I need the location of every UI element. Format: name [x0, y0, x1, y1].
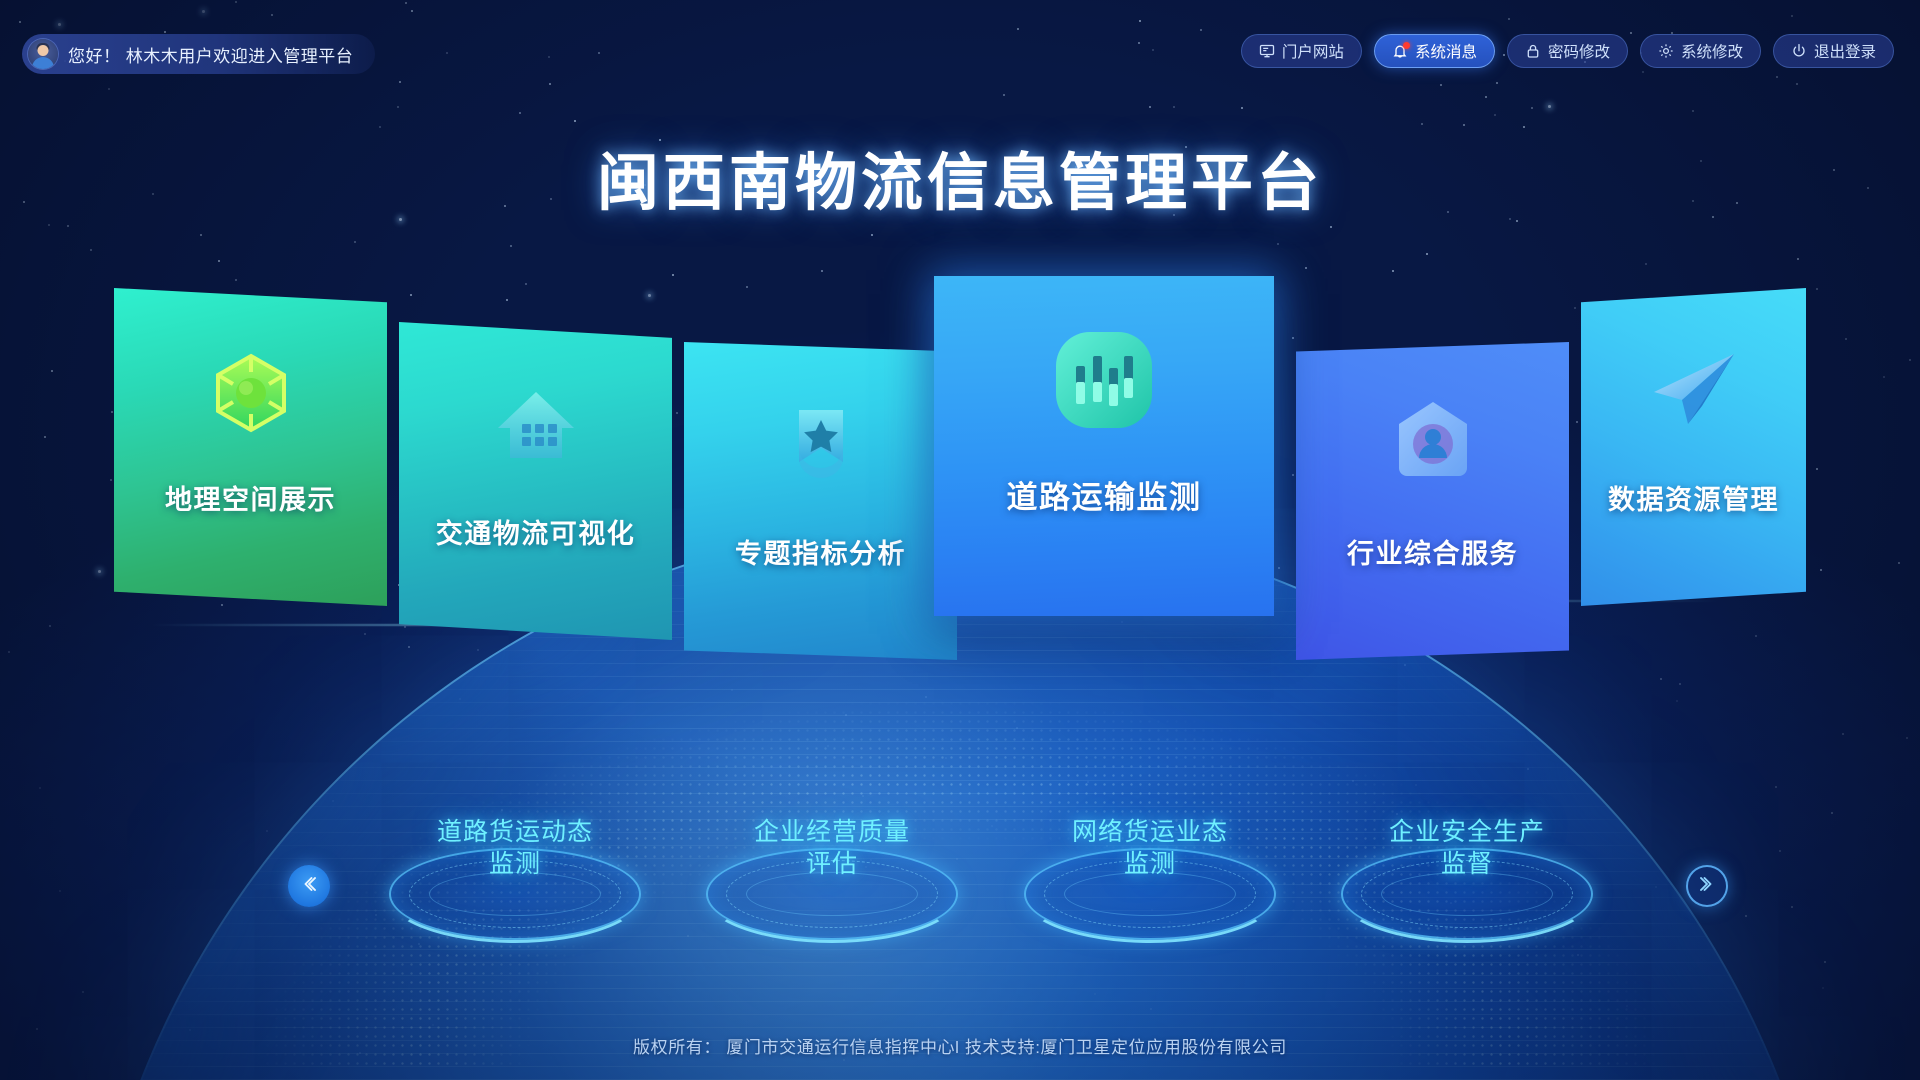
- card-traffic-logistics-visualization[interactable]: 交通物流可视化: [399, 322, 672, 640]
- bottom-item-line1: 道路货运动态: [385, 816, 645, 848]
- bell-icon: [1392, 43, 1408, 59]
- card-data-resource-management[interactable]: 数据资源管理: [1581, 288, 1806, 606]
- bottom-item-line2: 监督: [1337, 848, 1597, 880]
- app-root: 您好！ 林木木用户欢迎进入管理平台 门户网站: [0, 0, 1920, 1080]
- feature-card-carousel: 地理空间展示 交通物流可视化: [0, 276, 1920, 616]
- card-label: 道路运输监测: [934, 472, 1274, 517]
- card-label: 行业综合服务: [1296, 532, 1569, 571]
- portal-website-label: 门户网站: [1282, 40, 1344, 62]
- bottom-item-road-freight-monitoring[interactable]: 道路货运动态 监测: [385, 816, 645, 880]
- change-password-label: 密码修改: [1548, 40, 1610, 62]
- notification-badge-dot: [1403, 42, 1410, 49]
- card-thematic-indicator-analysis[interactable]: 专题指标分析: [684, 342, 957, 660]
- chevron-double-right-icon: [1696, 873, 1718, 900]
- bottom-item-enterprise-quality-evaluation[interactable]: 企业经营质量 评估: [702, 816, 962, 880]
- bookmark-star-icon: [777, 394, 865, 491]
- gear-icon: [1658, 43, 1674, 59]
- monitor-icon: [1259, 43, 1275, 59]
- card-label: 交通物流可视化: [399, 512, 672, 551]
- card-industry-comprehensive-service[interactable]: 行业综合服务: [1296, 342, 1569, 660]
- card-label: 数据资源管理: [1581, 478, 1806, 517]
- change-password-button[interactable]: 密码修改: [1507, 34, 1628, 68]
- bottom-item-network-freight-monitoring[interactable]: 网络货运业态 监测: [1020, 816, 1280, 880]
- chevron-double-left-icon: [298, 873, 320, 900]
- card-geospatial-display[interactable]: 地理空间展示: [114, 288, 387, 606]
- greeting-text: 您好！ 林木木用户欢迎进入管理平台: [68, 42, 353, 67]
- system-messages-label: 系统消息: [1415, 40, 1477, 62]
- page-title: 闽西南物流信息管理平台: [0, 132, 1920, 222]
- portal-website-button[interactable]: 门户网站: [1241, 34, 1362, 68]
- bottom-item-line1: 网络货运业态: [1020, 816, 1280, 848]
- lock-icon: [1525, 43, 1541, 59]
- user-avatar-icon: [28, 39, 58, 69]
- top-bar: 您好！ 林木木用户欢迎进入管理平台 门户网站: [0, 0, 1920, 96]
- logout-button[interactable]: 退出登录: [1773, 34, 1894, 68]
- hexagon-cube-icon: [205, 346, 297, 443]
- card-label: 地理空间展示: [114, 478, 387, 517]
- carousel-prev-button[interactable]: [288, 865, 330, 907]
- user-greeting-badge: 您好！ 林木木用户欢迎进入管理平台: [22, 34, 375, 74]
- system-settings-label: 系统修改: [1681, 40, 1743, 62]
- bottom-item-line2: 监测: [385, 848, 645, 880]
- bottom-item-line2: 评估: [702, 848, 962, 880]
- logout-label: 退出登录: [1814, 40, 1876, 62]
- bottom-item-enterprise-safety-supervision[interactable]: 企业安全生产 监督: [1337, 816, 1597, 880]
- system-messages-button[interactable]: 系统消息: [1374, 34, 1495, 68]
- power-icon: [1791, 43, 1807, 59]
- bottom-item-line2: 监测: [1020, 848, 1280, 880]
- card-label: 专题指标分析: [684, 532, 957, 571]
- top-nav-buttons: 门户网站 系统消息 密: [1241, 34, 1894, 68]
- carousel-next-button[interactable]: [1686, 865, 1728, 907]
- system-settings-button[interactable]: 系统修改: [1640, 34, 1761, 68]
- bottom-item-line1: 企业安全生产: [1337, 816, 1597, 848]
- paper-plane-icon: [1646, 344, 1742, 437]
- footer-copyright: 版权所有： 厦门市交通运行信息指挥中心l 技术支持:厦门卫星定位应用股份有限公司: [0, 1033, 1920, 1058]
- bottom-item-line1: 企业经营质量: [702, 816, 962, 848]
- bar-chart-icon: [1052, 328, 1156, 437]
- card-road-transport-monitoring[interactable]: 道路运输监测: [934, 276, 1274, 616]
- person-house-icon: [1387, 394, 1479, 491]
- house-grid-icon: [490, 380, 582, 477]
